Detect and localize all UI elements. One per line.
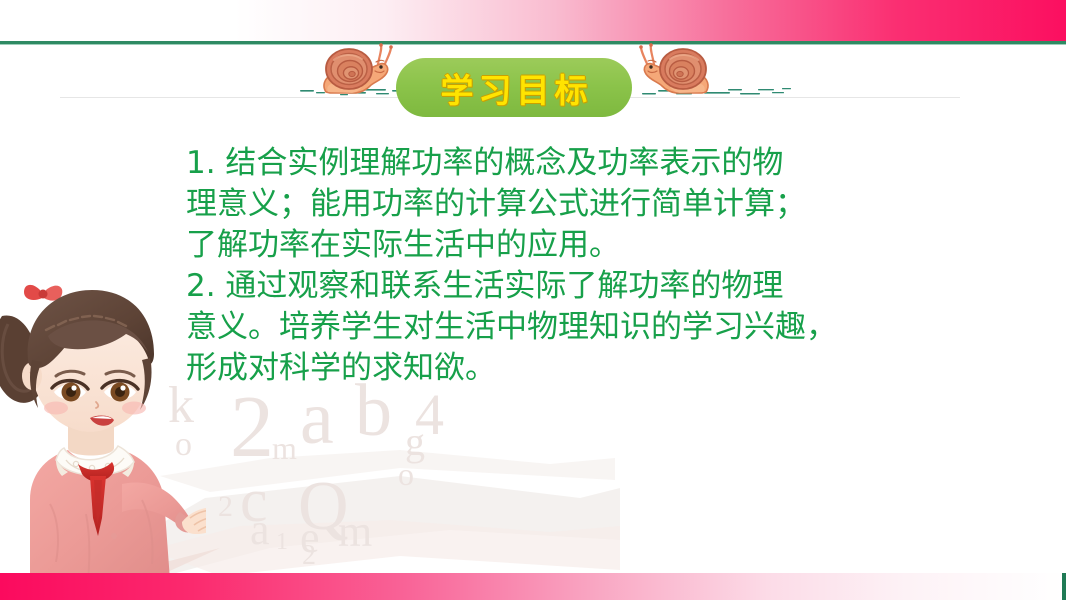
- gesturing-hand: [182, 508, 206, 534]
- snail-right-icon: [636, 42, 714, 100]
- objective-line: 理意义；能用功率的计算公式进行简单计算；: [186, 184, 956, 225]
- objective-line: 了解功率在实际生活中的应用。: [186, 225, 956, 266]
- top-gradient-band: [0, 0, 1066, 41]
- top-green-rule-secondary: [0, 44, 1066, 45]
- watermark-symbol: o: [398, 458, 414, 490]
- watermark-symbol: m: [272, 432, 297, 464]
- section-title-text: 学习目标: [436, 64, 593, 112]
- objectives-text-block: 1. 结合实例理解功率的概念及功率表示的物 理意义；能用功率的计算公式进行简单计…: [186, 143, 956, 389]
- slide-canvas: k2ab4omgcQo2aem21: [0, 0, 1066, 600]
- watermark-symbol: 4: [415, 386, 444, 444]
- watermark-symbol: 2: [218, 492, 233, 522]
- bottom-right-accent: [1062, 573, 1066, 600]
- objective-line: 意义。培养学生对生活中物理知识的学习兴趣，: [186, 307, 956, 348]
- watermark-symbol: a: [250, 508, 270, 552]
- section-title-badge: 学习目标: [396, 58, 632, 117]
- snail-left-icon: [318, 42, 396, 100]
- watermark-symbol: g: [405, 422, 425, 462]
- watermark-symbol: a: [300, 380, 334, 456]
- watermark-symbol: c: [240, 470, 268, 532]
- objective-line: 1. 结合实例理解功率的概念及功率表示的物: [186, 143, 956, 184]
- watermark-symbol: 1: [276, 530, 288, 554]
- watermark-symbol: e: [300, 516, 320, 560]
- watermark-symbol: m: [338, 510, 372, 554]
- student-girl-illustration: [0, 268, 206, 580]
- watermark-symbol: 2: [302, 542, 316, 570]
- watermark-symbol: 2: [230, 384, 274, 472]
- hair-bow: [24, 285, 62, 301]
- objective-line: 2. 通过观察和联系生活实际了解功率的物理: [186, 266, 956, 307]
- open-book-watermark: [150, 380, 620, 580]
- bottom-gradient-band: [0, 573, 1066, 600]
- background-watermark: k2ab4omgcQo2aem21: [150, 380, 620, 580]
- watermark-symbol: Q: [298, 472, 349, 542]
- objective-line: 形成对科学的求知欲。: [186, 348, 956, 389]
